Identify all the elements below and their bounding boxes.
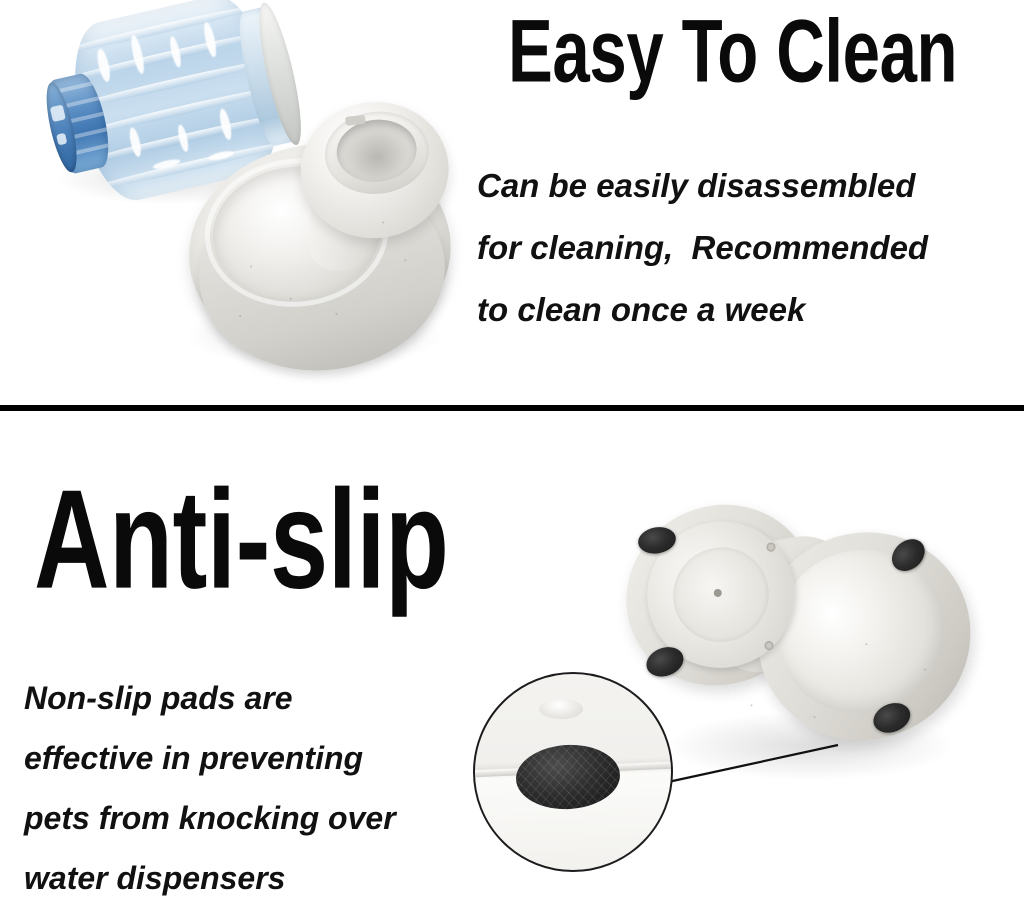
headline-anti-slip: Anti-slip [34, 470, 449, 611]
body-anti-slip: Non-slip pads are effective in preventin… [24, 668, 396, 907]
disassembled-dispenser-photo [40, 0, 460, 395]
bowl-underside-photo [620, 460, 1020, 800]
anti-slip-pad-zoom [473, 672, 673, 872]
section-divider [0, 405, 1024, 411]
body-easy-to-clean: Can be easily disassembled for cleaning,… [477, 155, 928, 341]
anti-slip-pad-closeup [515, 742, 622, 811]
base-nub [539, 699, 583, 719]
headline-easy-to-clean: Easy To Clean [508, 6, 957, 95]
bowl-base [175, 95, 470, 392]
pad-texture [515, 742, 622, 811]
product-infographic: Easy To Clean Can be easily disassembled… [0, 0, 1024, 907]
